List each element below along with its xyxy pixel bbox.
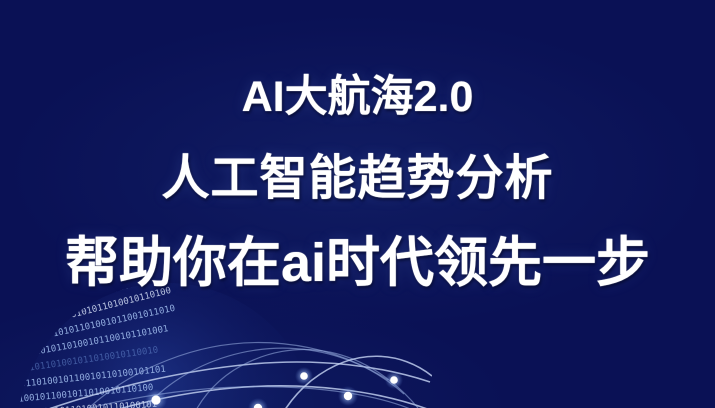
poster-canvas: 10010110100101101001011010010110 0010011… [0,0,715,408]
headline-line-2: 人工智能趋势分析 [0,155,715,203]
headline-line-3: 帮助你在ai时代领先一步 [0,236,715,290]
headline-line-1: AI大航海2.0 [0,76,715,119]
headline-block: AI大航海2.0 人工智能趋势分析 帮助你在ai时代领先一步 [0,76,715,290]
